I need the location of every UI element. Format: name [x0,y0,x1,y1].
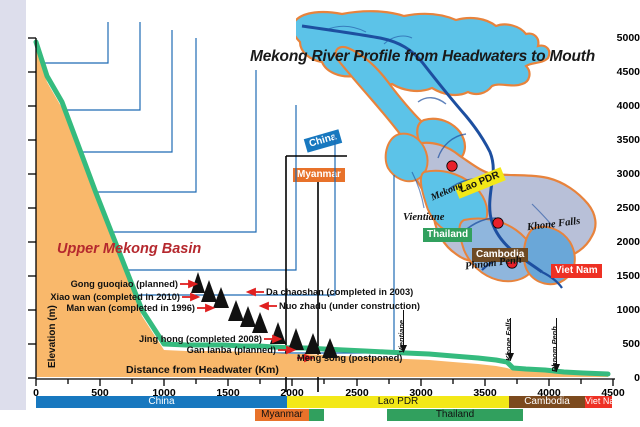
dam-label-jing-hong: Jing hong (completed 2008) [0,334,262,344]
profile-marker-vientiane: Vientiane [397,320,406,353]
country-bar-thailand: Thailand [387,409,523,421]
country-bar-viet-nam: Viet Nam [585,396,612,408]
y-tick-500: 500 [614,338,640,350]
dam-label-meng-song: Meng song (postponed) [297,353,417,363]
country-bar-myanmar: Myanmar [255,409,309,421]
figure-root: China Myanmar Lao PDR Thailand Cambodia … [0,0,640,427]
y-tick-2500: 2500 [614,202,640,214]
y-tick-4500: 4500 [614,66,640,78]
y-tick-3500: 3500 [614,134,640,146]
y-tick-3000: 3000 [614,168,640,180]
country-bar-thailand-small [309,409,324,421]
y-tick-5000: 5000 [614,32,640,44]
dam-label-nuo-zhadu: Nuo zhadu (under construction) [279,301,494,311]
profile-area [36,48,608,377]
country-bar-china: China [36,396,287,408]
dam-label-man-wan: Man wan (completed in 1996) [0,303,195,313]
dam-label-gong-guoqiao: Gong guoqiao (planned) [0,279,178,289]
country-bar-cambodia: Cambodia [509,396,585,408]
chart-title: Mekong River Profile from Headwaters to … [250,48,595,66]
x-axis-title: Distance from Headwater (Km) [126,364,279,376]
dam-label-da-chaoshan: Da chaoshan (completed in 2003) [266,287,476,297]
profile-marker-phnom-penh: Phnom Penh [550,326,559,372]
country-bar-lao-pdr: Lao PDR [287,396,509,408]
dam-label-xiao-wan: Xiao wan (completed in 2010) [0,292,180,302]
y-tick-4000: 4000 [614,100,640,112]
y-axis [28,38,36,379]
profile-marker-khone-falls: Khone Falls [504,318,513,361]
y-tick-2000: 2000 [614,236,640,248]
y-tick-0: 0 [614,372,640,384]
y-tick-1500: 1500 [614,270,640,282]
x-axis [36,379,615,386]
upper-mekong-basin-label: Upper Mekong Basin [57,241,201,257]
dam-label-gan-lanba: Gan lanba (planned) [0,345,276,355]
y-tick-1000: 1000 [614,304,640,316]
